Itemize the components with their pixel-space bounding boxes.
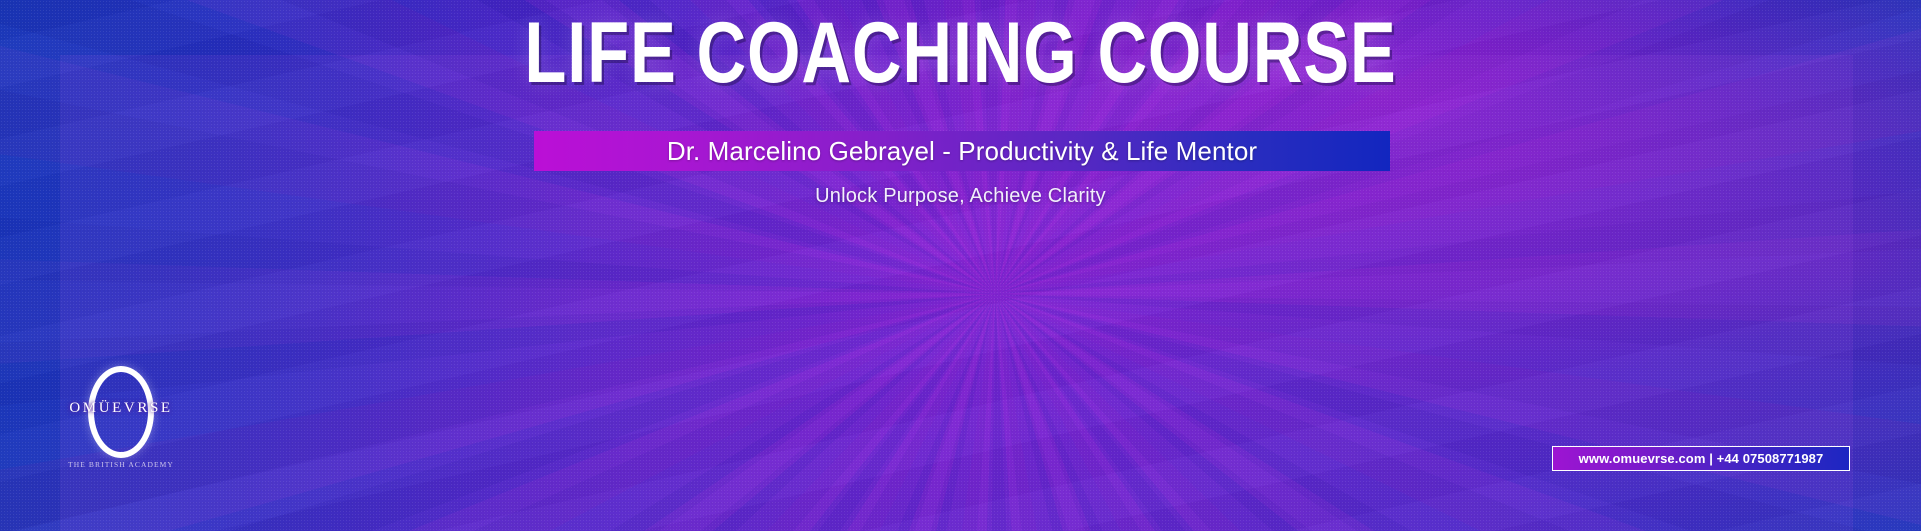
contact-strip[interactable]: www.omuevrse.com | +44 07508771987 [1552, 446, 1850, 471]
logo-wordmark: OMÜEVRSE [62, 400, 180, 417]
logo-subline: THE BRITISH ACADEMY [62, 460, 180, 469]
promo-banner: LIFE COACHING COURSE Dr. Marcelino Gebra… [0, 0, 1921, 531]
presenter-name-and-role: Dr. Marcelino Gebrayel - Productivity & … [667, 136, 1257, 167]
brand-logo: OMÜEVRSE THE BRITISH ACADEMY [62, 363, 180, 478]
presenter-bar: Dr. Marcelino Gebrayel - Productivity & … [534, 131, 1390, 171]
banner-tagline: Unlock Purpose, Achieve Clarity [0, 185, 1921, 208]
banner-title: LIFE COACHING COURSE [192, 10, 1729, 96]
contact-details-text: www.omuevrse.com | +44 07508771987 [1579, 451, 1824, 466]
banner-content: LIFE COACHING COURSE Dr. Marcelino Gebra… [0, 0, 1921, 531]
